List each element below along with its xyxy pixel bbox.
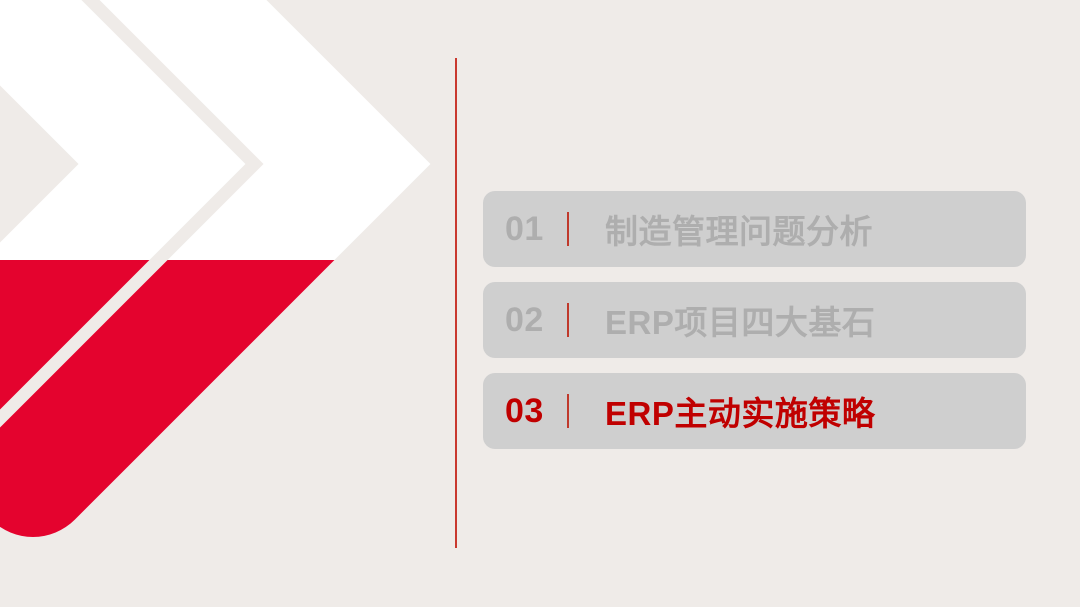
vertical-red-rule: [455, 58, 457, 548]
agenda-item-01[interactable]: 01 制造管理问题分析: [483, 191, 1026, 267]
agenda-item-number: 02: [505, 301, 567, 340]
agenda-item-label: 制造管理问题分析: [605, 205, 873, 253]
agenda-item-label: ERP项目四大基石: [605, 296, 875, 344]
agenda-slide: 01 制造管理问题分析 02 ERP项目四大基石 03 ERP主动实施策略: [0, 0, 1080, 607]
double-chevron-graphic: [0, 0, 440, 607]
agenda-item-03[interactable]: 03 ERP主动实施策略: [483, 373, 1026, 449]
agenda-item-separator: [567, 303, 569, 337]
agenda-item-number: 01: [505, 210, 567, 249]
agenda-item-separator: [567, 212, 569, 246]
agenda-item-02[interactable]: 02 ERP项目四大基石: [483, 282, 1026, 358]
agenda-list: 01 制造管理问题分析 02 ERP项目四大基石 03 ERP主动实施策略: [483, 191, 1026, 449]
agenda-item-label: ERP主动实施策略: [605, 387, 875, 435]
agenda-item-number: 03: [505, 392, 567, 431]
agenda-item-separator: [567, 394, 569, 428]
